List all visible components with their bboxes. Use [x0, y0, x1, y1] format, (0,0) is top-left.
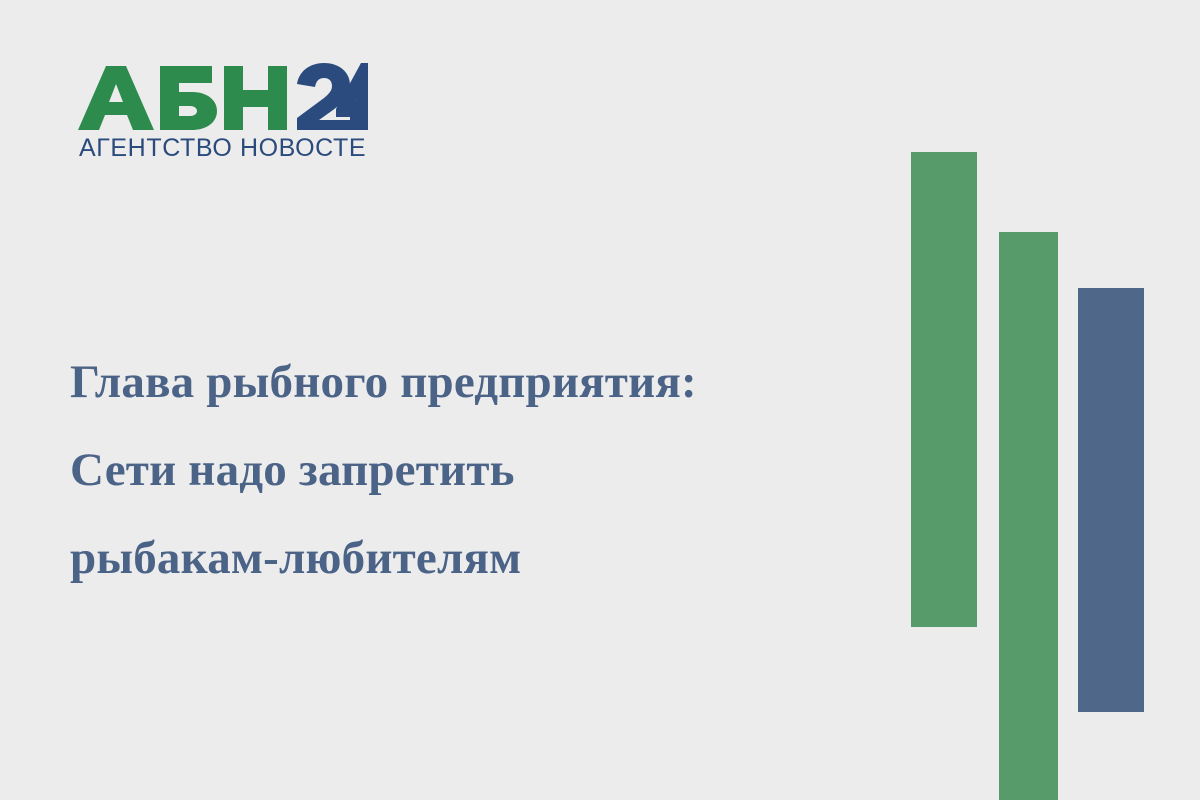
- abn24-logo[interactable]: АГЕНТСТВО НОВОСТЕЙ: [78, 62, 368, 162]
- headline-line-1: Глава рыбного предприятия:: [70, 338, 890, 426]
- news-card: АГЕНТСТВО НОВОСТЕЙ Глава рыбного предпри…: [0, 0, 1200, 800]
- logo-letter-be: [160, 66, 217, 130]
- headline-line-2: Сети надо запретить: [70, 426, 890, 514]
- decorative-bar-3: [1078, 288, 1144, 712]
- logo-graphic: АГЕНТСТВО НОВОСТЕЙ: [78, 62, 368, 162]
- logo-letter-a: [78, 66, 154, 130]
- headline: Глава рыбного предприятия: Сети надо зап…: [70, 338, 890, 602]
- logo-letter-en: [224, 66, 287, 130]
- logo-digit-2: [297, 63, 350, 130]
- headline-line-3: рыбакам-любителям: [70, 514, 890, 602]
- logo-tagline: АГЕНТСТВО НОВОСТЕЙ: [79, 132, 368, 162]
- decorative-bar-2: [999, 232, 1058, 800]
- decorative-bar-1: [911, 152, 977, 627]
